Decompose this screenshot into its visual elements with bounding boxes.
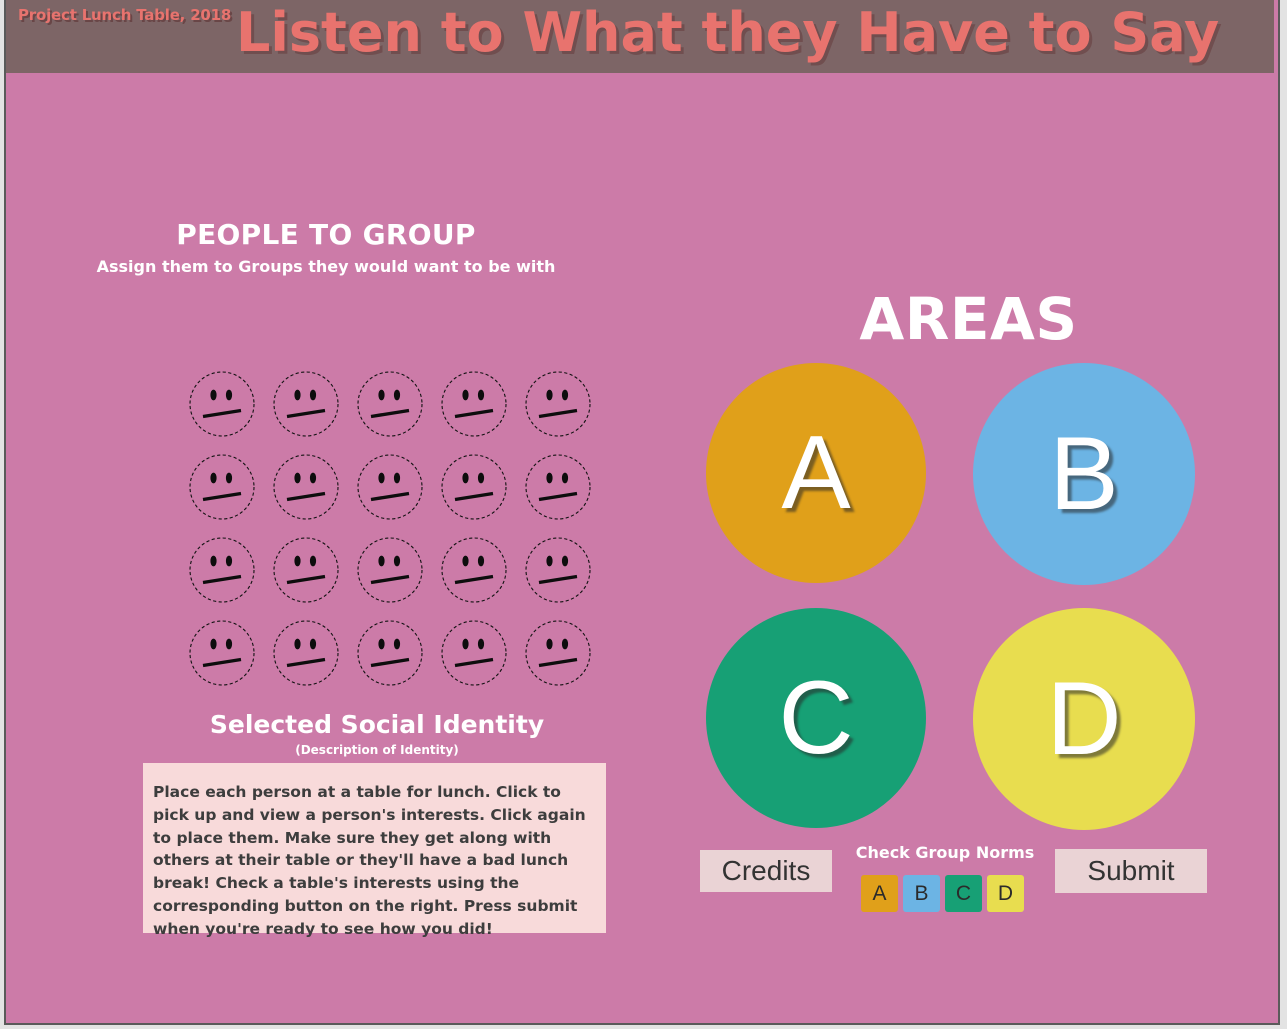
norm-button-b[interactable]: B [903,875,940,912]
person-token[interactable] [272,370,340,438]
project-label: Project Lunch Table, 2018 [18,6,231,24]
check-group-norms-label: Check Group Norms [844,843,1046,862]
person-token[interactable] [524,619,592,687]
person-token[interactable] [272,453,340,521]
area-label-c: C [778,666,853,770]
norm-button-a[interactable]: A [861,875,898,912]
people-grid [188,370,608,705]
person-token[interactable] [356,453,424,521]
group-norms-button-row: ABCD [861,875,1024,912]
people-subheading: Assign them to Groups they would want to… [6,257,646,276]
area-circle-d[interactable]: D [973,608,1195,830]
area-label-a: A [781,421,850,525]
person-token[interactable] [188,619,256,687]
person-token[interactable] [440,536,508,604]
person-token[interactable] [440,619,508,687]
person-token[interactable] [440,370,508,438]
game-canvas: PEOPLE TO GROUP Assign them to Groups th… [6,73,1278,1025]
area-circle-a[interactable]: A [706,363,926,583]
area-label-d: D [1046,667,1121,771]
identity-heading: Selected Social Identity [6,710,748,739]
person-token[interactable] [524,536,592,604]
application-window: Project Lunch Table, 2018 Listen to What… [4,0,1280,1025]
people-panel: PEOPLE TO GROUP Assign them to Groups th… [6,218,646,276]
norm-button-c[interactable]: C [945,875,982,912]
people-heading: PEOPLE TO GROUP [6,218,646,251]
person-token[interactable] [188,370,256,438]
page-title: Listen to What they Have to Say [236,1,1219,64]
title-bar: Project Lunch Table, 2018 Listen to What… [6,0,1274,73]
identity-description-box: Place each person at a table for lunch. … [143,763,606,933]
identity-subheading: (Description of Identity) [6,743,748,757]
area-label-b: B [1049,422,1118,526]
norm-button-d[interactable]: D [987,875,1024,912]
identity-description-text: Place each person at a table for lunch. … [153,781,592,940]
area-circle-c[interactable]: C [706,608,926,828]
person-token[interactable] [272,619,340,687]
person-token[interactable] [440,453,508,521]
credits-button[interactable]: Credits [700,850,832,892]
areas-heading: AREAS [706,285,1231,353]
submit-button[interactable]: Submit [1055,849,1207,893]
person-token[interactable] [188,453,256,521]
person-token[interactable] [356,370,424,438]
person-token[interactable] [524,453,592,521]
person-token[interactable] [188,536,256,604]
person-token[interactable] [356,536,424,604]
person-token[interactable] [272,536,340,604]
person-token[interactable] [356,619,424,687]
person-token[interactable] [524,370,592,438]
area-circle-b[interactable]: B [973,363,1195,585]
